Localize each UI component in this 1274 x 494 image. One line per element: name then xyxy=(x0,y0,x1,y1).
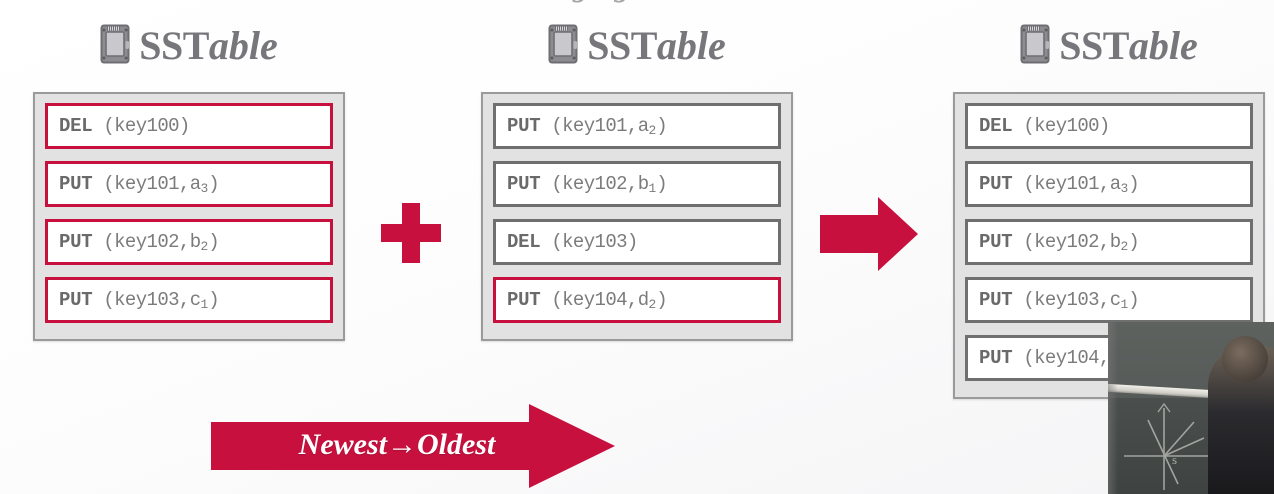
row-operation: PUT xyxy=(507,289,540,311)
ssd-drive-icon xyxy=(548,24,578,69)
logo-part-a: SST xyxy=(1059,23,1129,68)
row-arguments: (key101,a2) xyxy=(551,115,667,138)
sstable-left-panel: DEL(key100)PUT(key101,a3)PUT(key102,b2)P… xyxy=(33,92,345,341)
row-arguments: (key103,c1) xyxy=(103,289,219,312)
logo-part-b: able xyxy=(657,23,726,68)
row-arguments: (key103,c1) xyxy=(1023,289,1139,312)
svg-text:s: s xyxy=(1172,452,1177,467)
sstable-right-logo: SSTable xyxy=(587,26,726,66)
row-operation: PUT xyxy=(979,289,1012,311)
row-operation: DEL xyxy=(59,115,92,137)
row-arguments: (key102,b2) xyxy=(1023,231,1139,254)
plus-sign-icon xyxy=(381,203,441,263)
ssd-drive-icon xyxy=(100,24,130,69)
sstable-merged-logo: SSTable xyxy=(1059,26,1198,66)
row-arguments: (key100) xyxy=(1023,115,1109,137)
table-row: DEL(key100) xyxy=(965,103,1253,149)
row-operation: PUT xyxy=(979,347,1012,369)
row-operation: DEL xyxy=(507,231,540,253)
row-arguments: (key102,b1) xyxy=(551,173,667,196)
table-row: PUT(key104,d2) xyxy=(493,277,781,323)
table-row: DEL(key103) xyxy=(493,219,781,265)
row-operation: PUT xyxy=(59,173,92,195)
logo-part-b: able xyxy=(1129,23,1198,68)
row-operation: PUT xyxy=(507,173,540,195)
right-block-arrow-icon xyxy=(820,195,918,273)
ssd-drive-icon xyxy=(1020,24,1050,69)
table-row: PUT(key103,c1) xyxy=(45,277,333,323)
newest-to-oldest-label: Newest→Oldest xyxy=(277,428,517,462)
table-row: PUT(key102,b1) xyxy=(493,161,781,207)
table-row: DEL(key100) xyxy=(45,103,333,149)
sstable-merged-header: SSTable xyxy=(953,0,1265,92)
logo-part-b: able xyxy=(209,23,278,68)
webcam-video-overlay[interactable]: s xyxy=(1108,322,1274,494)
sstable-left: SSTable DEL(key100)PUT(key101,a3)PUT(key… xyxy=(33,0,345,341)
sstable-left-logo: SSTable xyxy=(139,26,278,66)
row-arguments: (key103) xyxy=(551,231,637,253)
table-row: PUT(key101,a2) xyxy=(493,103,781,149)
newest-to-oldest-arrow: Newest→Oldest xyxy=(211,404,615,490)
overlay-edge-shadow xyxy=(1108,322,1118,494)
row-arguments: (key101,a3) xyxy=(103,173,219,196)
row-operation: PUT xyxy=(59,289,92,311)
row-arguments: (key104,d2) xyxy=(551,289,667,312)
lecturer-head xyxy=(1222,336,1268,382)
row-operation: PUT xyxy=(979,231,1012,253)
clipped-footer-text: 024) xyxy=(0,472,172,494)
row-operation: DEL xyxy=(979,115,1012,137)
table-row: PUT(key101,a3) xyxy=(965,161,1253,207)
row-operation: PUT xyxy=(979,173,1012,195)
slide-canvas: Merging SSTables xyxy=(0,0,1274,494)
row-operation: PUT xyxy=(507,115,540,137)
row-operation: PUT xyxy=(59,231,92,253)
table-row: PUT(key103,c1) xyxy=(965,277,1253,323)
row-arguments: (key100) xyxy=(103,115,189,137)
table-row: PUT(key102,b2) xyxy=(45,219,333,265)
row-arguments: (key102,b2) xyxy=(103,231,219,254)
table-row: PUT(key102,b2) xyxy=(965,219,1253,265)
sstable-right: SSTable PUT(key101,a2)PUT(key102,b1)DEL(… xyxy=(481,0,793,341)
sstable-right-panel: PUT(key101,a2)PUT(key102,b1)DEL(key103)P… xyxy=(481,92,793,341)
logo-part-a: SST xyxy=(139,23,209,68)
table-row: PUT(key101,a3) xyxy=(45,161,333,207)
row-arguments: (key101,a3) xyxy=(1023,173,1139,196)
sstable-right-header: SSTable xyxy=(481,0,793,92)
logo-part-a: SST xyxy=(587,23,657,68)
sstable-left-header: SSTable xyxy=(33,0,345,92)
